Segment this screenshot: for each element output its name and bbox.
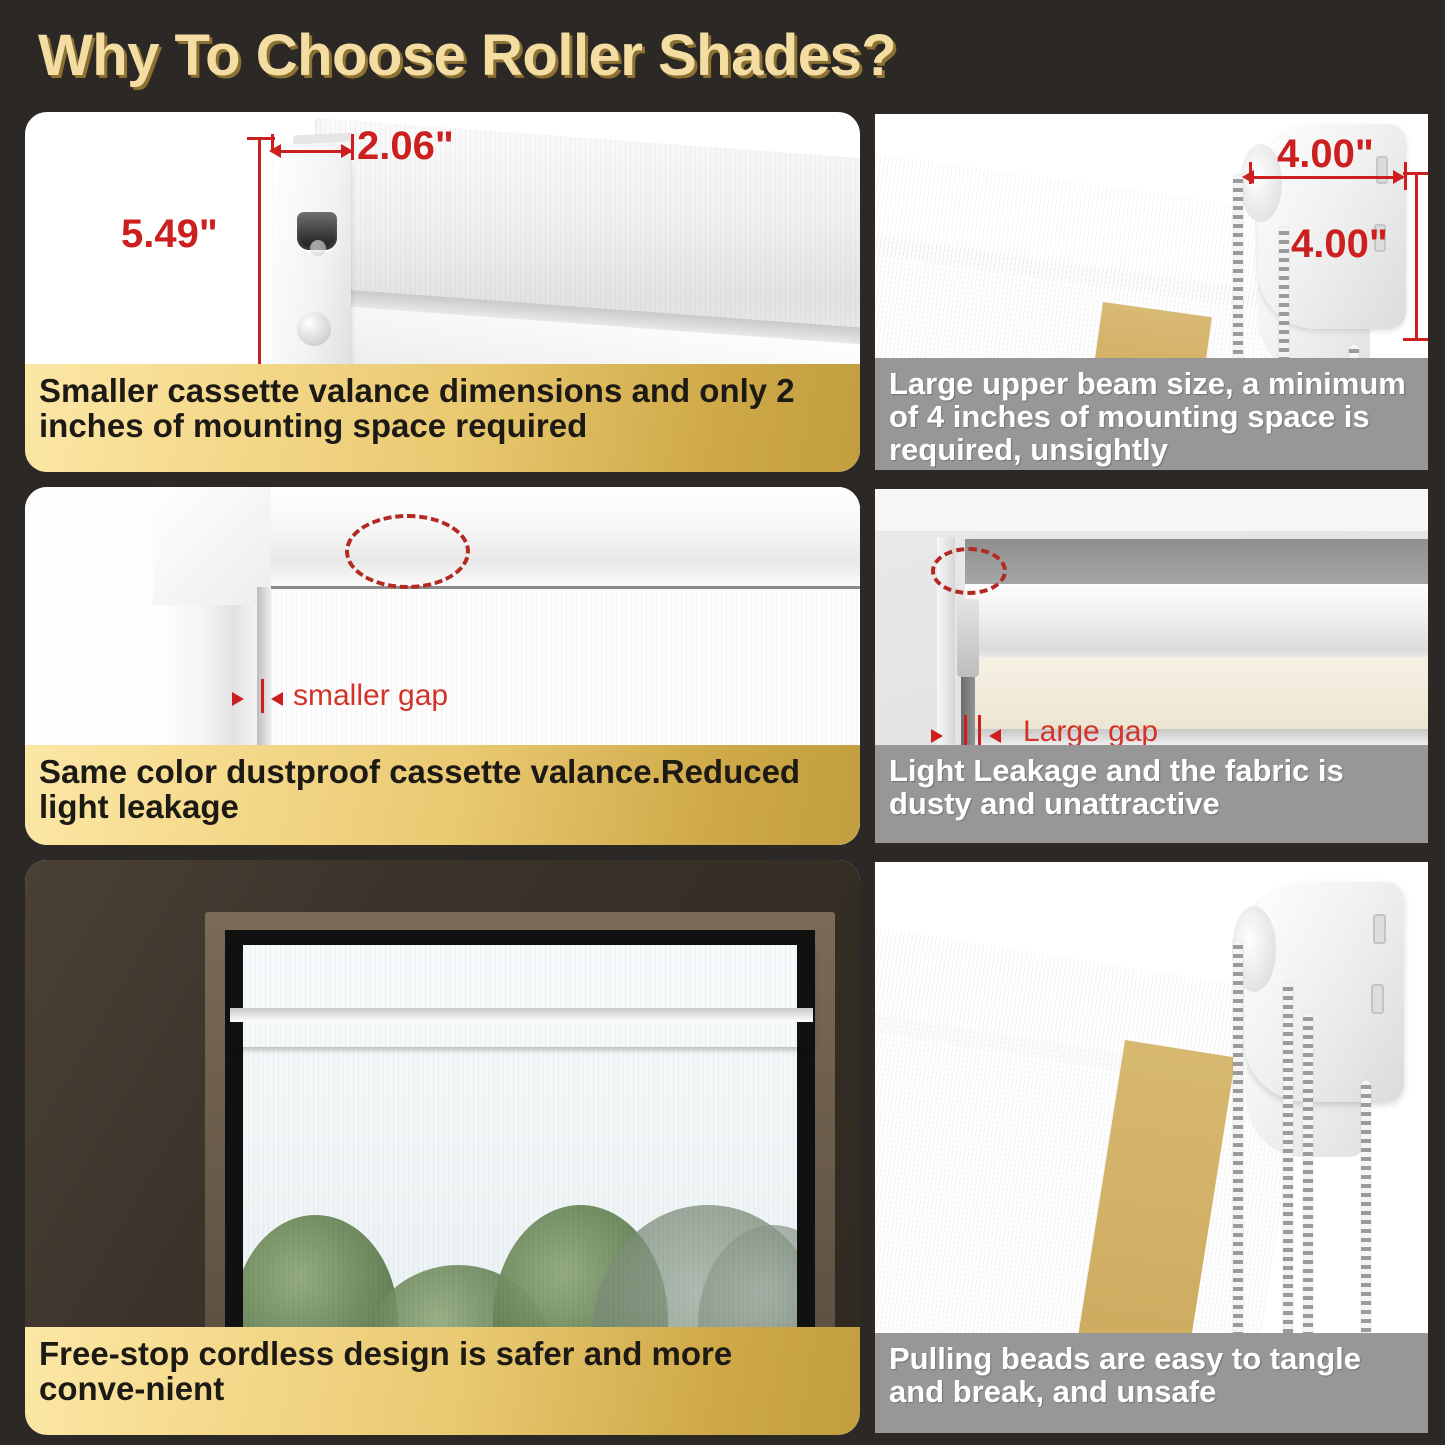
panel-smaller-gap[interactable]: smaller gap Same color dustproof cassett… — [25, 487, 860, 845]
shade-top-hairline — [271, 586, 860, 589]
page-title: Why To Choose Roller Shades? — [38, 22, 896, 89]
dimension-label-width: 2.06" — [357, 124, 454, 169]
gap-highlight-ellipse — [931, 547, 1007, 595]
panel-smaller-cassette[interactable]: 2.06" 5.49" Smaller cassette valance dim… — [25, 112, 860, 472]
wall-top-highlight — [875, 489, 1428, 531]
panel-large-gap[interactable]: Large gap Light Leakage and the fabric i… — [873, 487, 1430, 845]
shade-fabric — [243, 1047, 803, 1352]
panel-1-caption: Smaller cassette valance dimensions and … — [25, 364, 860, 472]
dimension-label-height: 5.49" — [121, 212, 218, 257]
gap-arrow-right — [271, 692, 283, 706]
dimension-label-beam-height: 4.00" — [1291, 222, 1388, 267]
panel-4-caption: Light Leakage and the fabric is dusty an… — [875, 745, 1428, 843]
cassette-lip — [230, 1008, 813, 1022]
cassette-valance — [230, 942, 813, 1047]
endcap-screw-small — [310, 240, 326, 256]
bead-chain-4 — [1361, 1080, 1371, 1340]
endcap-screw — [297, 312, 331, 346]
bead-chain-2 — [1283, 982, 1293, 1340]
gap-arrow-right — [989, 729, 1001, 743]
panel-3-caption: Same color dustproof cassette valance.Re… — [25, 745, 860, 845]
bead-chain-3 — [1303, 1012, 1313, 1340]
valance-endcap — [273, 142, 351, 402]
panel-cordless-design[interactable]: Free-stop cordless design is safer and m… — [25, 860, 860, 1435]
panel-6-caption: Pulling beads are easy to tangle and bre… — [875, 1333, 1428, 1433]
dimension-label-beam-width: 4.00" — [1277, 132, 1374, 177]
shade-clip — [957, 599, 979, 677]
shade-upper-panel — [271, 589, 860, 749]
gap-arrow-left — [232, 692, 244, 706]
panel-large-beam[interactable]: 4.00" 4.00" Large upper beam size, a min… — [873, 112, 1430, 472]
roller-beam — [965, 584, 1428, 662]
panel-5-caption: Free-stop cordless design is safer and m… — [25, 1327, 860, 1435]
bead-chain-1 — [1233, 940, 1243, 1340]
gap-arrow-left — [931, 729, 943, 743]
gap-highlight-ellipse-2 — [345, 514, 470, 589]
gap-label-large: Large gap — [1023, 715, 1158, 749]
shade-left-edge-upper — [257, 587, 271, 749]
window-frame-bevel — [153, 487, 271, 605]
gap-label-smaller: smaller gap — [293, 679, 448, 713]
panel-2-caption: Large upper beam size, a minimum of 4 in… — [875, 358, 1428, 470]
beam-shadow — [965, 539, 1428, 589]
panel-pulling-beads[interactable]: Pulling beads are easy to tangle and bre… — [873, 860, 1430, 1435]
